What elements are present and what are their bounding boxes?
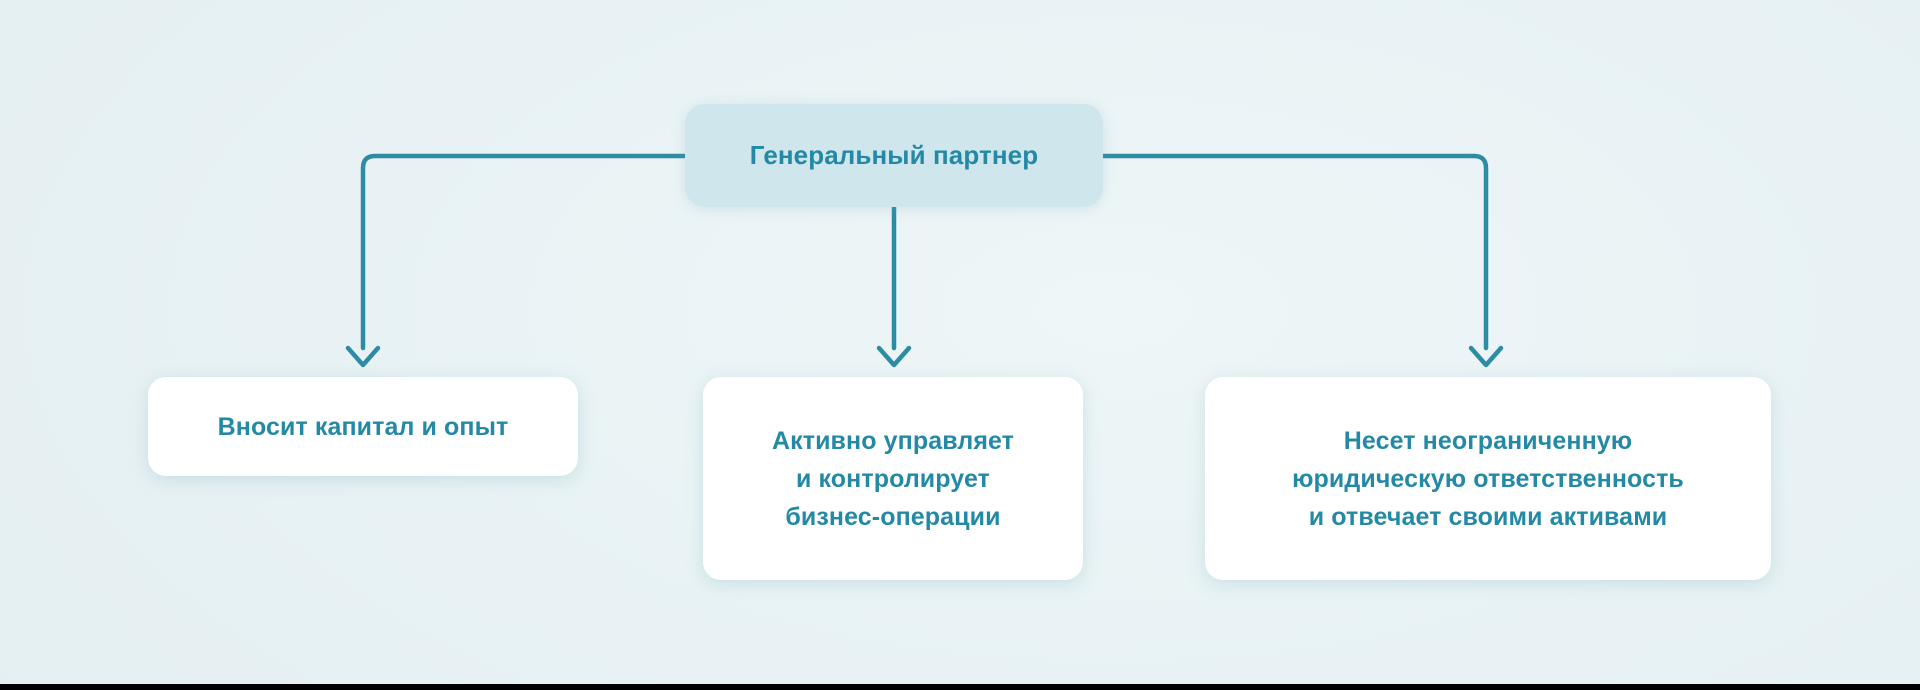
bottom-edge-bar [0, 684, 1920, 690]
arrowhead-down-right [1471, 348, 1501, 365]
connector-left [348, 156, 685, 365]
node-contributes-capital-label: Вносит капитал и опыт [218, 408, 509, 446]
node-unlimited-liability[interactable]: Несет неограниченную юридическую ответст… [1205, 377, 1771, 580]
node-general-partner-label: Генеральный партнер [750, 140, 1038, 171]
connector-right [1103, 156, 1501, 365]
arrowhead-down-center [879, 348, 909, 365]
connector-center [879, 207, 909, 365]
node-contributes-capital[interactable]: Вносит капитал и опыт [148, 377, 578, 476]
diagram-canvas: Генеральный партнер Вносит капитал и опы… [0, 0, 1920, 690]
node-unlimited-liability-label: Несет неограниченную юридическую ответст… [1292, 422, 1684, 536]
node-manages-operations-label: Активно управляет и контролирует бизнес-… [772, 422, 1014, 536]
arrowhead-down-left [348, 348, 378, 365]
node-general-partner[interactable]: Генеральный партнер [685, 104, 1103, 207]
node-manages-operations[interactable]: Активно управляет и контролирует бизнес-… [703, 377, 1083, 580]
